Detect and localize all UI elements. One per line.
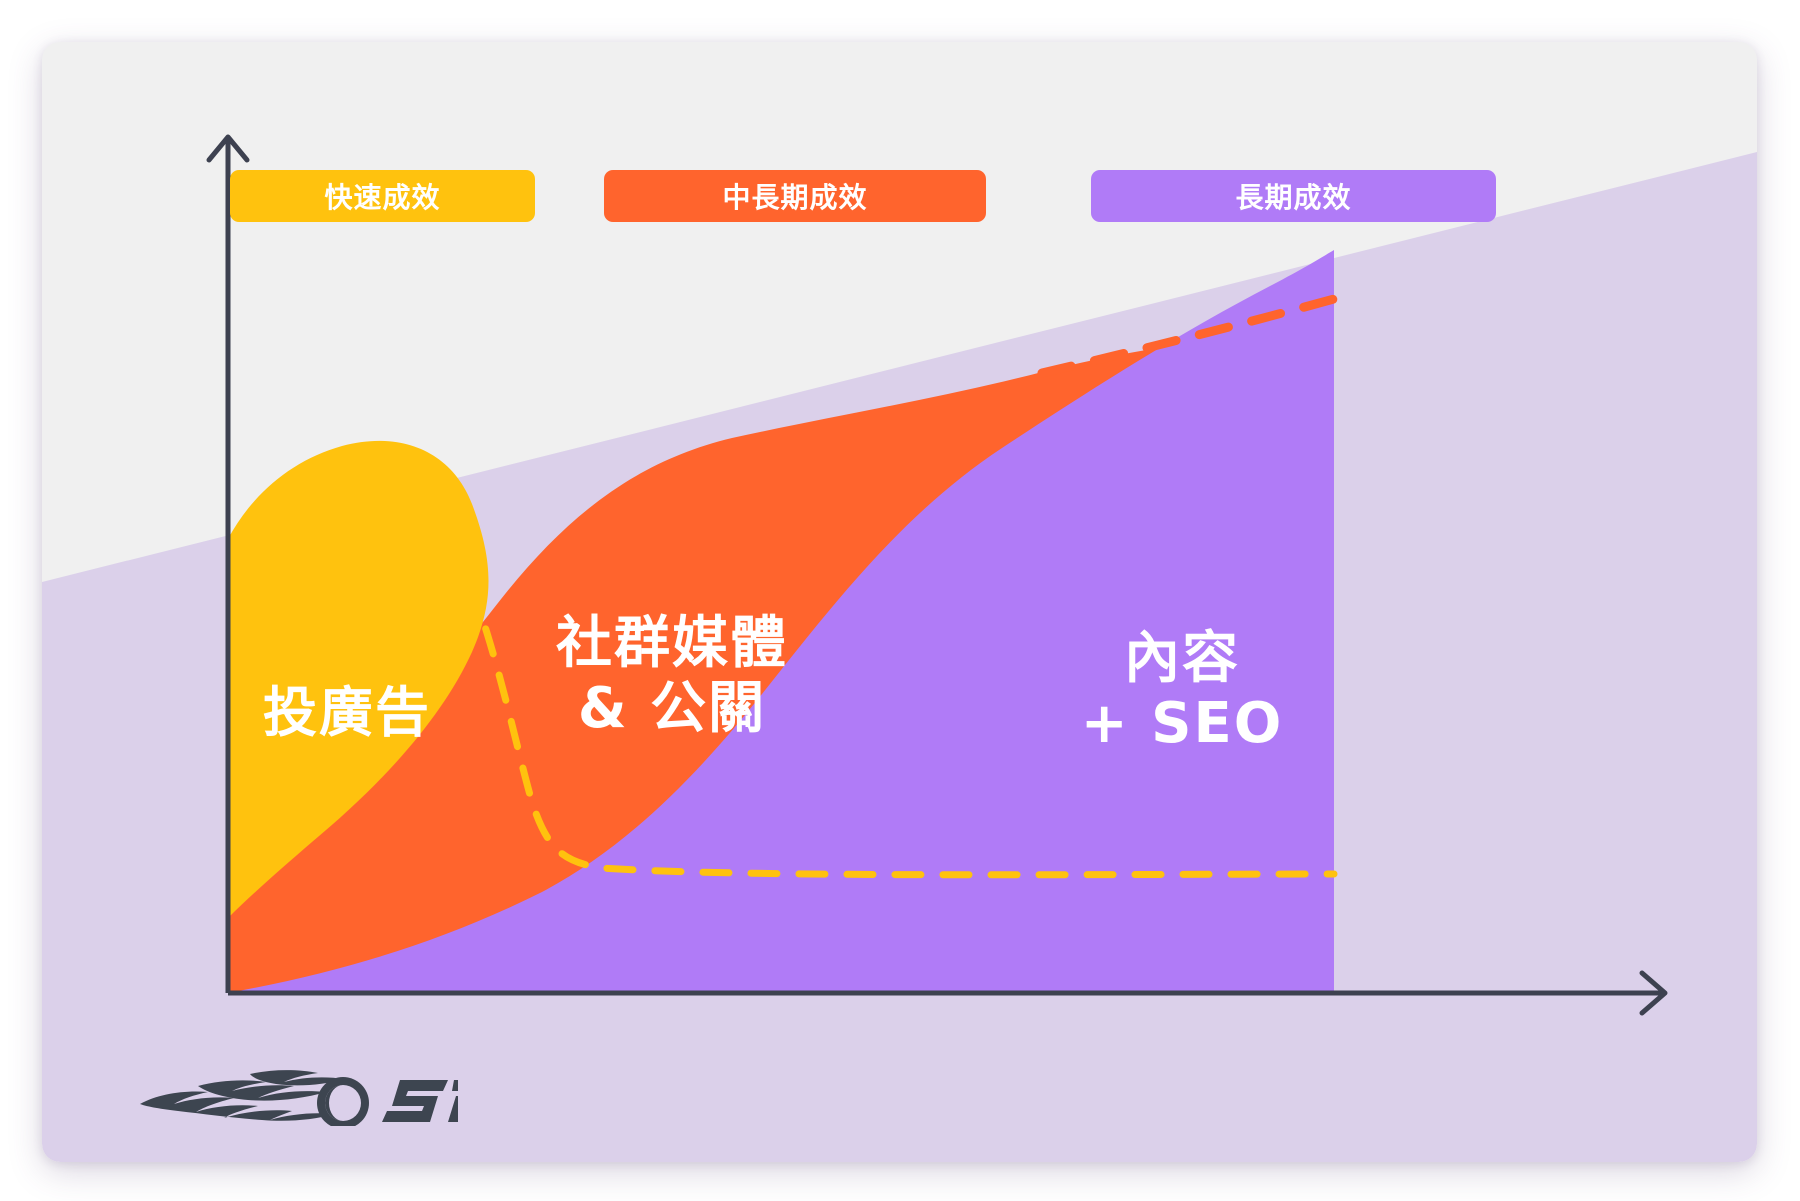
infographic-card: 快速成效 中長期成效 長期成效 投廣告 社群媒體 & 公關 內容 + SEO <box>42 42 1757 1162</box>
semrush-logo[interactable] <box>138 1064 458 1126</box>
legend-item-long-label: 長期成效 <box>1235 176 1351 216</box>
legend-item-mid-label: 中長期成效 <box>722 176 867 216</box>
legend-item-quick-label: 快速成效 <box>324 176 440 216</box>
legend-item-mid[interactable]: 中長期成效 <box>604 170 986 222</box>
legend-item-long[interactable]: 長期成效 <box>1091 170 1496 222</box>
semrush-logo-icon <box>138 1064 458 1126</box>
legend-item-quick[interactable]: 快速成效 <box>230 170 535 222</box>
screenshot-root: 快速成效 中長期成效 長期成效 投廣告 社群媒體 & 公關 內容 + SEO <box>0 0 1800 1201</box>
